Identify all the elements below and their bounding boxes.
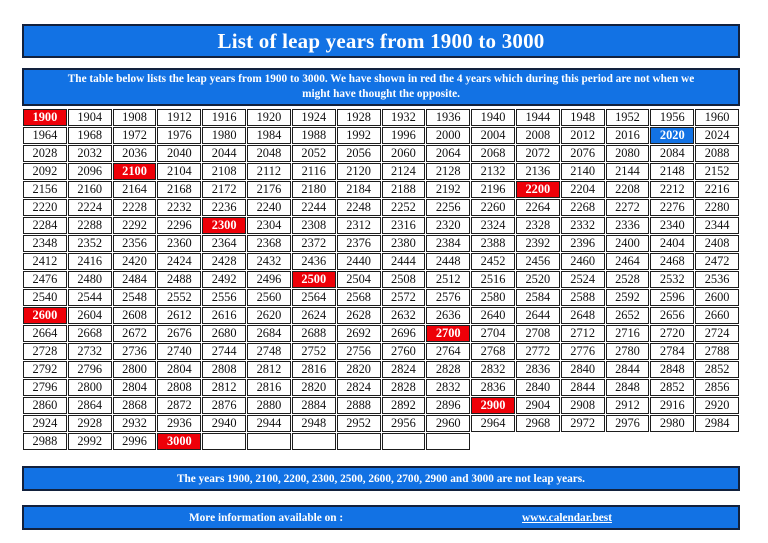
year-cell: 2336 [606,217,650,234]
table-row: 2284228822922296230023042308231223162320… [23,217,739,234]
year-cell: 2712 [561,325,605,342]
table-row: 2728273227362740274427482752275627602764… [23,343,739,360]
year-cell: 2728 [23,343,67,360]
year-cell: 2328 [516,217,560,234]
table-row: 2028203220362040204420482052205620602064… [23,145,739,162]
year-cell: 2832 [471,361,515,378]
year-cell: 2288 [68,217,112,234]
year-cell: 2252 [382,199,426,216]
year-cell: 2872 [157,397,201,414]
year-cell: 2196 [471,181,515,198]
year-cell: 2548 [113,289,157,306]
year-cell: 2484 [113,271,157,288]
year-cell: 2840 [561,361,605,378]
year-cell: 1996 [382,127,426,144]
year-cell: 2432 [247,253,291,270]
year-cell: 2132 [471,163,515,180]
intro-line-2: might have thought the opposite. [32,87,730,102]
year-cell: 2420 [113,253,157,270]
year-cell: 2908 [561,397,605,414]
year-cell: 2920 [695,397,739,414]
year-cell: 2948 [292,415,336,432]
year-cell: 2160 [68,181,112,198]
year-cell-not-leap: 2500 [292,271,336,288]
year-cell: 2780 [606,343,650,360]
year-cell: 2096 [68,163,112,180]
year-cell: 2124 [382,163,426,180]
year-cell: 1932 [382,109,426,126]
year-cell: 2528 [606,271,650,288]
table-row: 2156216021642168217221762180218421882192… [23,181,739,198]
year-cell: 2204 [561,181,605,198]
year-cell: 2656 [650,307,694,324]
year-cell: 2276 [650,199,694,216]
year-cell: 2636 [426,307,470,324]
year-cell: 2492 [202,271,246,288]
table-cell-spacer [561,433,605,450]
year-cell: 2764 [426,343,470,360]
year-cell: 2032 [68,145,112,162]
year-cell: 2376 [337,235,381,252]
year-cell: 1920 [247,109,291,126]
year-cell: 2560 [247,289,291,306]
footer-banner: More information available on : www.cale… [22,505,740,530]
year-cell: 2976 [606,415,650,432]
year-cell: 2720 [650,325,694,342]
year-cell: 2848 [650,361,694,378]
table-row: 2412241624202424242824322436244024442448… [23,253,739,270]
year-cell: 2944 [247,415,291,432]
year-cell: 1908 [113,109,157,126]
year-cell: 2436 [292,253,336,270]
year-cell: 2564 [292,289,336,306]
year-cell: 2556 [202,289,246,306]
year-cell: 1960 [695,109,739,126]
table-cell-spacer [516,433,560,450]
footer-label: More information available on : [189,512,343,524]
year-cell-empty [202,433,246,450]
year-cell: 2440 [337,253,381,270]
year-cell: 2852 [650,379,694,396]
table-cell-spacer [695,433,739,450]
year-cell: 2848 [606,379,650,396]
year-cell: 2816 [292,361,336,378]
year-cell: 2172 [202,181,246,198]
year-cell: 1988 [292,127,336,144]
year-cell-not-leap: 2200 [516,181,560,198]
year-cell: 2188 [382,181,426,198]
year-cell: 2648 [561,307,605,324]
year-cell: 2088 [695,145,739,162]
year-cell: 2292 [113,217,157,234]
non-leap-years-note-text: The years 1900, 2100, 2200, 2300, 2500, … [177,473,585,485]
year-cell: 2640 [471,307,515,324]
year-cell: 2812 [202,379,246,396]
year-cell: 2320 [426,217,470,234]
year-cell: 2844 [606,361,650,378]
year-cell: 2248 [337,199,381,216]
year-cell: 2744 [202,343,246,360]
table-row: 2220222422282232223622402244224822522256… [23,199,739,216]
year-cell: 2824 [382,361,426,378]
year-cell: 2236 [202,199,246,216]
year-cell: 1992 [337,127,381,144]
leap-years-table-body: 1900190419081912191619201924192819321936… [23,109,739,450]
year-cell: 1976 [157,127,201,144]
year-cell: 2148 [650,163,694,180]
year-cell: 2804 [157,361,201,378]
year-cell: 2800 [68,379,112,396]
year-cell: 2076 [561,145,605,162]
year-cell: 2012 [561,127,605,144]
year-cell: 2928 [68,415,112,432]
year-cell: 1984 [247,127,291,144]
year-cell: 2664 [23,325,67,342]
year-cell: 2716 [606,325,650,342]
year-cell: 2036 [113,145,157,162]
year-cell: 2588 [561,289,605,306]
year-cell: 2624 [292,307,336,324]
year-cell: 2608 [113,307,157,324]
year-cell: 2308 [292,217,336,234]
year-cell: 2932 [113,415,157,432]
year-cell: 2896 [426,397,470,414]
year-cell: 2108 [202,163,246,180]
year-cell: 2836 [471,379,515,396]
year-cell-empty [426,433,470,450]
year-cell: 2072 [516,145,560,162]
leap-year-page: List of leap years from 1900 to 3000 The… [0,0,768,543]
year-cell: 2444 [382,253,426,270]
year-cell: 2824 [337,379,381,396]
year-cell: 2592 [606,289,650,306]
year-cell: 2652 [606,307,650,324]
year-cell: 2812 [247,361,291,378]
year-cell: 1956 [650,109,694,126]
year-cell: 2808 [202,361,246,378]
year-cell: 2508 [382,271,426,288]
year-cell: 2052 [292,145,336,162]
year-cell: 2080 [606,145,650,162]
year-cell: 2348 [23,235,67,252]
year-cell: 2104 [157,163,201,180]
year-cell: 2396 [561,235,605,252]
year-cell: 2748 [247,343,291,360]
year-cell: 2796 [68,361,112,378]
year-cell: 2284 [23,217,67,234]
year-cell: 2064 [426,145,470,162]
year-cell: 2208 [606,181,650,198]
non-leap-years-note: The years 1900, 2100, 2200, 2300, 2500, … [22,466,740,491]
year-cell: 2140 [561,163,605,180]
year-cell: 2876 [202,397,246,414]
year-cell: 2324 [471,217,515,234]
year-cell: 2988 [23,433,67,450]
year-cell: 2760 [382,343,426,360]
year-cell: 2400 [606,235,650,252]
year-cell: 1972 [113,127,157,144]
year-cell: 2600 [695,289,739,306]
year-cell: 2696 [382,325,426,342]
year-cell: 2332 [561,217,605,234]
table-row: 2792279628002804280828122816282028242828… [23,361,739,378]
year-cell: 2708 [516,325,560,342]
year-cell: 2576 [426,289,470,306]
year-cell: 2112 [247,163,291,180]
year-cell: 2360 [157,235,201,252]
year-cell: 2040 [157,145,201,162]
year-cell: 1980 [202,127,246,144]
website-link[interactable]: www.calendar.best [522,512,612,524]
table-row: 2540254425482552255625602564256825722576… [23,289,739,306]
year-cell: 2516 [471,271,515,288]
year-cell: 2532 [650,271,694,288]
page-title: List of leap years from 1900 to 3000 [22,24,740,58]
year-cell: 2000 [426,127,470,144]
year-cell: 2228 [113,199,157,216]
year-cell: 2880 [247,397,291,414]
year-cell: 2116 [292,163,336,180]
year-cell: 2024 [695,127,739,144]
year-cell: 2752 [292,343,336,360]
year-cell: 2736 [113,343,157,360]
year-cell: 2524 [561,271,605,288]
table-row: 2092209621002104210821122116212021242128… [23,163,739,180]
year-cell: 2684 [247,325,291,342]
table-row: 2924292829322936294029442948295229562960… [23,415,739,432]
year-cell: 2004 [471,127,515,144]
year-cell: 2184 [337,181,381,198]
table-row: 2664266826722676268026842688269226962700… [23,325,739,342]
year-cell: 2692 [337,325,381,342]
year-cell: 2536 [695,271,739,288]
year-cell: 2244 [292,199,336,216]
intro-line-1: The table below lists the leap years fro… [32,72,730,87]
year-cell: 2992 [68,433,112,450]
year-cell: 2416 [68,253,112,270]
year-cell: 2380 [382,235,426,252]
page-title-text: List of leap years from 1900 to 3000 [217,29,544,54]
table-cell-spacer [650,433,694,450]
year-cell: 2356 [113,235,157,252]
year-cell: 2816 [247,379,291,396]
year-cell: 2620 [247,307,291,324]
year-cell: 2832 [426,379,470,396]
year-cell: 2472 [695,253,739,270]
year-cell: 2164 [113,181,157,198]
year-cell-not-leap: 2600 [23,307,67,324]
table-row: 2796280028042808281228162820282428282832… [23,379,739,396]
year-cell: 2828 [426,361,470,378]
year-cell: 2772 [516,343,560,360]
year-cell: 2016 [606,127,650,144]
year-cell: 2840 [516,379,560,396]
year-cell: 2836 [516,361,560,378]
year-cell-not-leap: 2300 [202,217,246,234]
year-cell: 2996 [113,433,157,450]
year-cell: 2180 [292,181,336,198]
year-cell: 2424 [157,253,201,270]
year-cell: 2280 [695,199,739,216]
year-cell: 2372 [292,235,336,252]
year-cell: 2924 [23,415,67,432]
year-cell: 1928 [337,109,381,126]
year-cell: 1940 [471,109,515,126]
year-cell: 2468 [650,253,694,270]
year-cell-empty [337,433,381,450]
year-cell: 2952 [337,415,381,432]
year-cell: 2580 [471,289,515,306]
table-row: 1900190419081912191619201924192819321936… [23,109,739,126]
year-cell: 2056 [337,145,381,162]
year-cell: 2800 [113,361,157,378]
year-cell: 2168 [157,181,201,198]
table-row: 2348235223562360236423682372237623802384… [23,235,739,252]
year-cell: 2344 [695,217,739,234]
year-cell: 1952 [606,109,650,126]
year-cell: 1948 [561,109,605,126]
year-cell: 2240 [247,199,291,216]
year-cell: 2216 [695,181,739,198]
year-cell: 2612 [157,307,201,324]
year-cell-empty [382,433,426,450]
year-cell: 2136 [516,163,560,180]
year-cell-current: 2020 [650,127,694,144]
year-cell: 2312 [337,217,381,234]
year-cell: 2892 [382,397,426,414]
year-cell: 2352 [68,235,112,252]
year-cell: 2260 [471,199,515,216]
year-cell: 2340 [650,217,694,234]
year-cell: 2584 [516,289,560,306]
year-cell: 1936 [426,109,470,126]
year-cell: 2968 [516,415,560,432]
year-cell: 2448 [426,253,470,270]
year-cell: 2464 [606,253,650,270]
year-cell: 2668 [68,325,112,342]
year-cell-empty [247,433,291,450]
year-cell: 2572 [382,289,426,306]
year-cell: 2044 [202,145,246,162]
year-cell: 2268 [561,199,605,216]
year-cell: 2480 [68,271,112,288]
year-cell: 2384 [426,235,470,252]
year-cell: 2304 [247,217,291,234]
year-cell: 1944 [516,109,560,126]
year-cell: 2212 [650,181,694,198]
year-cell: 2596 [650,289,694,306]
intro-banner: The table below lists the leap years fro… [22,68,740,106]
year-cell: 2152 [695,163,739,180]
year-cell: 2884 [292,397,336,414]
year-cell: 2604 [68,307,112,324]
year-cell: 2852 [695,361,739,378]
year-cell: 2904 [516,397,560,414]
year-cell: 2176 [247,181,291,198]
year-cell: 2552 [157,289,201,306]
year-cell: 2936 [157,415,201,432]
year-cell: 2404 [650,235,694,252]
year-cell: 2028 [23,145,67,162]
leap-years-table: 1900190419081912191619201924192819321936… [22,108,740,451]
year-cell: 2740 [157,343,201,360]
table-row: 2476248024842488249224962500250425082512… [23,271,739,288]
year-cell: 2048 [247,145,291,162]
year-cell: 1912 [157,109,201,126]
year-cell: 2520 [516,271,560,288]
year-cell: 2452 [471,253,515,270]
year-cell: 2392 [516,235,560,252]
year-cell: 2644 [516,307,560,324]
year-cell: 2256 [426,199,470,216]
year-cell: 2956 [382,415,426,432]
year-cell: 2768 [471,343,515,360]
year-cell: 2540 [23,289,67,306]
year-cell: 2676 [157,325,201,342]
year-cell: 2788 [695,343,739,360]
year-cell: 2828 [382,379,426,396]
year-cell: 2888 [337,397,381,414]
year-cell: 2672 [113,325,157,342]
year-cell: 2408 [695,235,739,252]
year-cell: 2616 [202,307,246,324]
year-cell: 2504 [337,271,381,288]
year-cell: 1916 [202,109,246,126]
table-row: 1964196819721976198019841988199219962000… [23,127,739,144]
year-cell: 2856 [695,379,739,396]
year-cell: 2544 [68,289,112,306]
year-cell: 2156 [23,181,67,198]
year-cell: 2724 [695,325,739,342]
year-cell: 2476 [23,271,67,288]
year-cell: 2628 [337,307,381,324]
year-cell: 1924 [292,109,336,126]
year-cell: 2264 [516,199,560,216]
year-cell: 2980 [650,415,694,432]
year-cell: 2732 [68,343,112,360]
year-cell: 2660 [695,307,739,324]
table-cell-spacer [471,433,515,450]
year-cell: 2388 [471,235,515,252]
year-cell-not-leap: 3000 [157,433,201,450]
year-cell: 2232 [157,199,201,216]
year-cell: 2224 [68,199,112,216]
year-cell: 2272 [606,199,650,216]
year-cell: 2960 [426,415,470,432]
year-cell: 2808 [157,379,201,396]
year-cell: 2916 [650,397,694,414]
year-cell: 2296 [157,217,201,234]
year-cell: 2688 [292,325,336,342]
year-cell: 2488 [157,271,201,288]
year-cell: 2844 [561,379,605,396]
year-cell: 1964 [23,127,67,144]
year-cell: 2776 [561,343,605,360]
year-cell: 2120 [337,163,381,180]
year-cell: 2008 [516,127,560,144]
year-cell-not-leap: 2900 [471,397,515,414]
year-cell: 1904 [68,109,112,126]
year-cell: 2704 [471,325,515,342]
year-cell: 2060 [382,145,426,162]
year-cell: 2092 [23,163,67,180]
year-cell: 2460 [561,253,605,270]
year-cell-not-leap: 2100 [113,163,157,180]
year-cell: 2192 [426,181,470,198]
year-cell: 2864 [68,397,112,414]
year-cell: 2680 [202,325,246,342]
year-cell: 2964 [471,415,515,432]
